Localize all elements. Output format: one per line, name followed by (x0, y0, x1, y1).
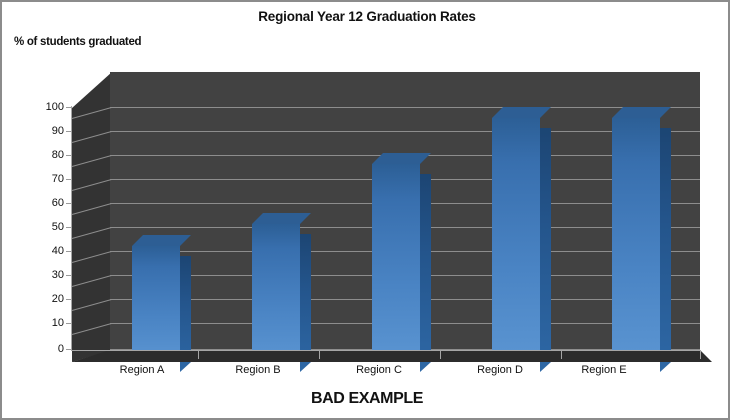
x-label-region-d: Region D (440, 364, 560, 376)
bar-front-face (492, 118, 540, 362)
gridline-100 (110, 107, 700, 108)
x-axis-title: BAD EXAMPLE (2, 390, 730, 408)
bar-front-face (372, 164, 420, 362)
chart-title: Regional Year 12 Graduation Rates (2, 9, 730, 24)
y-tick-label-20: 20 (24, 293, 64, 305)
plot-area (72, 72, 712, 362)
y-axis-title: % of students graduated (14, 36, 141, 48)
x-tick-mark-3 (440, 351, 441, 359)
y-tick-label-70: 70 (24, 173, 64, 185)
y-tick-mark-0 (66, 349, 71, 350)
bar-region-c[interactable] (372, 164, 420, 362)
y-tick-mark-90 (66, 131, 71, 132)
x-label-region-e: Region E (544, 364, 664, 376)
bar-region-e[interactable] (612, 118, 660, 362)
x-label-region-c: Region C (319, 364, 439, 376)
bar-side-face (660, 128, 671, 372)
bar-region-a[interactable] (132, 246, 180, 362)
y-tick-mark-20 (66, 299, 71, 300)
y-tick-mark-70 (66, 179, 71, 180)
x-label-region-b: Region B (198, 364, 318, 376)
y-tick-label-100: 100 (24, 101, 64, 113)
y-tick-mark-40 (66, 251, 71, 252)
bar-front-face (252, 224, 300, 362)
y-tick-mark-30 (66, 275, 71, 276)
x-tick-mark-2 (319, 351, 320, 359)
y-tick-label-10: 10 (24, 317, 64, 329)
y-tick-label-90: 90 (24, 125, 64, 137)
y-tick-mark-60 (66, 203, 71, 204)
chart-container: Regional Year 12 Graduation Rates % of s… (0, 0, 730, 420)
x-tick-mark-4 (561, 351, 562, 359)
x-tick-mark-5 (700, 351, 701, 359)
y-tick-label-80: 80 (24, 149, 64, 161)
y-tick-label-60: 60 (24, 197, 64, 209)
y-tick-label-0: 0 (24, 343, 64, 355)
y-tick-label-30: 30 (24, 269, 64, 281)
y-tick-mark-100 (66, 107, 71, 108)
x-label-region-a: Region A (82, 364, 202, 376)
y-tick-mark-50 (66, 227, 71, 228)
x-tick-mark-1 (198, 351, 199, 359)
y-tick-mark-10 (66, 323, 71, 324)
y-tick-label-40: 40 (24, 245, 64, 257)
bar-region-b[interactable] (252, 224, 300, 362)
y-tick-label-50: 50 (24, 221, 64, 233)
y-axis-line (71, 106, 72, 351)
bar-front-face (612, 118, 660, 362)
bar-front-face (132, 246, 180, 362)
x-axis-line (71, 350, 701, 351)
bar-side-face (420, 174, 431, 372)
bar-region-d[interactable] (492, 118, 540, 362)
y-tick-mark-80 (66, 155, 71, 156)
bar-side-face (540, 128, 551, 372)
